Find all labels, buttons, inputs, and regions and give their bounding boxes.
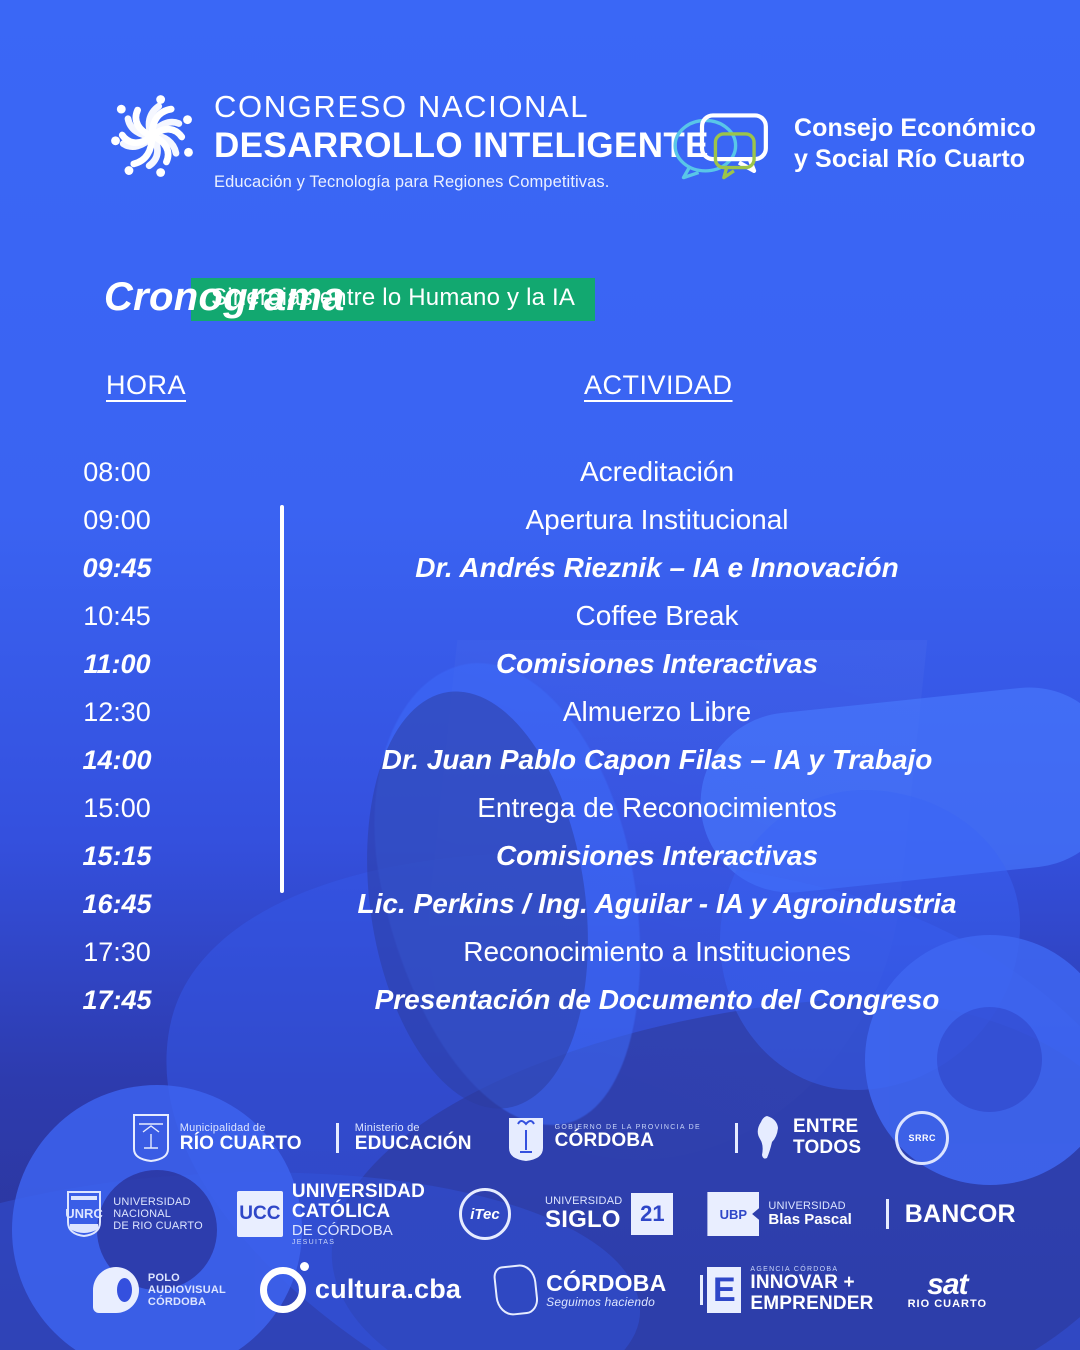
sponsor-label-big: UNIVERSIDAD [292,1182,425,1203]
partner-name-line2: y Social Río Cuarto [794,144,1036,175]
sponsor-text: AGENCIA CÓRDOBA INNOVAR + EMPRENDER [750,1266,873,1314]
svg-text:UNRC: UNRC [66,1206,104,1221]
cell-actividad: Comisiones Interactivas [234,832,1080,880]
ucc-square-icon: UCC [237,1191,283,1237]
sponsor-ministerio-educacion: Ministerio de EDUCACIÓN [336,1122,472,1155]
sponsor-logos: Municipalidad de RÍO CUARTO Ministerio d… [0,1100,1080,1328]
schedule-vertical-divider [280,505,284,893]
table-row: 15:00Entrega de Reconocimientos [0,784,1080,832]
sponsor-label-big: BANCOR [905,1201,1016,1228]
column-header-actividad: ACTIVIDAD [584,370,733,401]
sponsor-municipalidad-rio-cuarto: Municipalidad de RÍO CUARTO [131,1112,302,1164]
unrc-shield-icon: UNRC [64,1188,104,1240]
bancor-icon [886,1199,889,1229]
cultura-cba-icon [260,1267,306,1313]
congress-brand: CONGRESO NACIONAL DESARROLLO INTELIGENTE… [104,86,709,192]
sponsor-text: UNIVERSIDAD Blas Pascal [768,1200,851,1229]
table-row: 17:45Presentación de Documento del Congr… [0,976,1080,1024]
sponsor-row-2: UNRC UNIVERSIDAD NACIONAL DE RIO CUARTO … [0,1176,1080,1252]
table-row: 11:00Comisiones Interactivas [0,640,1080,688]
page-title: Cronograma [104,275,345,320]
speech-bubbles-icon [668,102,778,186]
cell-actividad: Dr. Juan Pablo Capon Filas – IA y Trabaj… [234,736,1080,784]
sponsor-label-big: CÓRDOBA [555,1131,701,1152]
congress-title-line2: DESARROLLO INTELIGENTE [214,126,709,165]
sponsor-polo-audiovisual: POLO AUDIOVISUAL CÓRDOBA [93,1267,226,1313]
ubp-icon: UBP [707,1192,759,1236]
sponsor-label-big: SIGLO [545,1207,622,1233]
cell-hora: 17:30 [0,928,234,976]
sponsor-label-big: sat [908,1271,987,1298]
cell-actividad: Acreditación [234,448,1080,496]
partner-name-line1: Consejo Económico [794,113,1036,144]
congress-title-line1: CONGRESO NACIONAL [214,90,709,125]
cordoba-crest-icon [506,1112,546,1164]
sponsor-text: Municipalidad de RÍO CUARTO [180,1122,302,1155]
sponsor-label-mid: Blas Pascal [768,1212,851,1229]
vertical-rule-icon [735,1123,738,1153]
cell-hora: 09:00 [0,496,234,544]
sponsor-bancor: BANCOR [886,1199,1016,1229]
sponsor-label-big: EDUCACIÓN [355,1134,472,1155]
sponsor-text: CÓRDOBA Seguimos haciendo [546,1271,666,1309]
sponsor-sat-rio-cuarto: sat RIO CUARTO [908,1271,987,1310]
cell-actividad: Apertura Institucional [234,496,1080,544]
poster-header: CONGRESO NACIONAL DESARROLLO INTELIGENTE… [0,82,1080,222]
siglo21-icon: 21 [631,1193,673,1235]
cell-hora: 15:00 [0,784,234,832]
schedule-header-row: HORA ACTIVIDAD [0,370,1080,416]
sponsor-label-small: UNIVERSIDAD NACIONAL DE RIO CUARTO [113,1196,203,1233]
cell-hora: 16:45 [0,880,234,928]
sponsor-text: GOBIERNO DE LA PROVINCIA DE CÓRDOBA [555,1124,701,1152]
partner-name: Consejo Económico y Social Río Cuarto [794,113,1036,176]
cell-hora: 11:00 [0,640,234,688]
cell-hora: 10:45 [0,592,234,640]
sponsor-cordoba-seguimos: CÓRDOBA Seguimos haciendo [495,1265,666,1315]
table-row: 16:45Lic. Perkins / Ing. Aguilar - IA y … [0,880,1080,928]
sponsor-text: Ministerio de EDUCACIÓN [355,1122,472,1155]
table-row: 14:00Dr. Juan Pablo Capon Filas – IA y T… [0,736,1080,784]
sat-icon: sat RIO CUARTO [908,1271,987,1310]
sponsor-ucc: UCC UNIVERSIDAD CATÓLICA DE CÓRDOBA JESU… [237,1182,425,1247]
sponsor-itec: iTec [459,1188,511,1240]
sponsor-label-tiny: JESUITAS [292,1239,425,1246]
cell-actividad: Almuerzo Libre [234,688,1080,736]
partner-logo-consejo: Consejo Económico y Social Río Cuarto [668,102,1036,186]
cell-hora: 09:45 [0,544,234,592]
sponsor-row-3: POLO AUDIOVISUAL CÓRDOBA cultura.cba CÓR… [0,1252,1080,1328]
itec-label: iTec [470,1206,499,1223]
sponsor-label-big: cultura.cba [315,1275,461,1304]
sponsor-row-1: Municipalidad de RÍO CUARTO Ministerio d… [0,1100,1080,1176]
sponsor-siglo21: UNIVERSIDAD SIGLO 21 [545,1193,673,1235]
sponsor-text: UNIVERSIDAD CATÓLICA DE CÓRDOBA JESUITAS [292,1182,425,1247]
itec-circle-icon: iTec [459,1188,511,1240]
table-row: 09:00Apertura Institucional [0,496,1080,544]
schedule-table: HORA ACTIVIDAD 08:00Acreditación09:00Ape… [0,370,1080,1024]
sociedad-rural-seal-icon: SRRC [895,1111,949,1165]
cell-hora: 08:00 [0,448,234,496]
sponsor-label-small: POLO AUDIOVISUAL CÓRDOBA [148,1272,226,1309]
sponsor-label-big2: CATÓLICA [292,1202,425,1223]
cell-actividad: Dr. Andrés Rieznik – IA e Innovación [234,544,1080,592]
rio-cuarto-crest-icon [131,1112,171,1164]
sponsor-sociedad-rural: SRRC [895,1111,949,1165]
sponsor-label-big: INNOVAR + [750,1273,873,1294]
sponsor-label-big2: TODOS [793,1138,861,1159]
congress-subtitle: Educación y Tecnología para Regiones Com… [214,173,709,192]
cell-actividad: Comisiones Interactivas [234,640,1080,688]
poster-canvas: CONGRESO NACIONAL DESARROLLO INTELIGENTE… [0,0,1080,1350]
table-row: 09:45Dr. Andrés Rieznik – IA e Innovació… [0,544,1080,592]
sponsor-label-small: DE CÓRDOBA [292,1223,425,1240]
cell-actividad: Lic. Perkins / Ing. Aguilar - IA y Agroi… [234,880,1080,928]
innovar-emprender-icon: E [700,1267,741,1313]
schedule-body: 08:00Acreditación09:00Apertura Instituci… [0,448,1080,1024]
table-row: 08:00Acreditación [0,448,1080,496]
vertical-rule-icon [336,1123,339,1153]
sponsor-entre-todos: ENTRE TODOS [735,1114,861,1162]
sponsor-label-big: CÓRDOBA [546,1271,666,1296]
table-row: 12:30Almuerzo Libre [0,688,1080,736]
table-row: 15:15Comisiones Interactivas [0,832,1080,880]
polo-audiovisual-icon [93,1267,139,1313]
sponsor-cultura-cba: cultura.cba [260,1267,461,1313]
sponsor-text: ENTRE TODOS [793,1117,861,1158]
cell-hora: 15:15 [0,832,234,880]
swirl-mandala-icon [104,88,200,184]
sponsor-label-big: RÍO CUARTO [180,1134,302,1155]
sponsor-label-small: RIO CUARTO [908,1298,987,1310]
column-header-hora: HORA [106,370,186,401]
sponsor-label-big: ENTRE [793,1117,861,1138]
cell-actividad: Entrega de Reconocimientos [234,784,1080,832]
sponsor-label-small: Seguimos haciendo [546,1296,666,1309]
sponsor-ubp: UBP UNIVERSIDAD Blas Pascal [707,1192,851,1236]
argentina-map-icon [754,1114,784,1162]
cell-actividad: Presentación de Documento del Congreso [234,976,1080,1024]
table-row: 17:30Reconocimiento a Instituciones [0,928,1080,976]
cell-actividad: Coffee Break [234,592,1080,640]
sponsor-innovar-emprender: E AGENCIA CÓRDOBA INNOVAR + EMPRENDER [700,1266,873,1314]
sponsor-label-big2: EMPRENDER [750,1294,873,1315]
cell-actividad: Reconocimiento a Instituciones [234,928,1080,976]
ie-bar-icon [700,1275,703,1305]
congress-title-block: CONGRESO NACIONAL DESARROLLO INTELIGENTE… [214,86,709,192]
cordoba-map-icon [493,1263,540,1317]
cell-hora: 14:00 [0,736,234,784]
ie-e-icon: E [707,1267,741,1313]
sponsor-gobierno-cordoba: GOBIERNO DE LA PROVINCIA DE CÓRDOBA [506,1112,701,1164]
seal-initials: SRRC [908,1133,936,1143]
sponsor-text: UNIVERSIDAD SIGLO [545,1195,622,1233]
sponsor-unrc: UNRC UNIVERSIDAD NACIONAL DE RIO CUARTO [64,1188,203,1240]
cell-hora: 17:45 [0,976,234,1024]
table-row: 10:45Coffee Break [0,592,1080,640]
cell-hora: 12:30 [0,688,234,736]
